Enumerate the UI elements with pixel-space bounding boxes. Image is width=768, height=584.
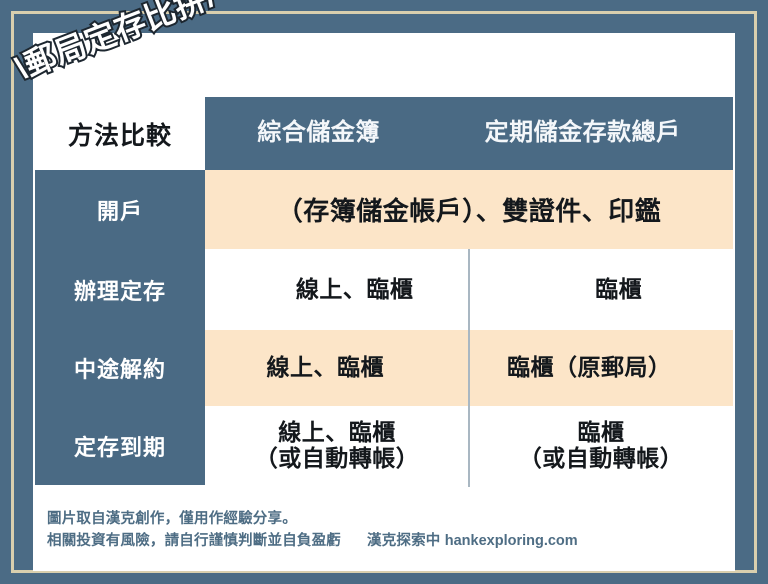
row-value-open-account: （存簿儲金帳戶）、雙證件、印鑑 <box>205 170 733 249</box>
row-value-make-deposit-col2: 臨櫃 <box>504 249 733 330</box>
brand-name: 漢克探索中 <box>367 533 441 549</box>
footer-brand: 漢克探索中 hankexploring.com <box>367 530 578 552</box>
footer-disclaimer-line1: 圖片取自漢克創作，僅用作經驗分享。 <box>47 508 727 530</box>
table-row: 開戶 （存簿儲金帳戶）、雙證件、印鑑 <box>35 170 733 249</box>
column-header-1: 綜合儲金簿 <box>205 97 432 170</box>
footer-line2-wrapper: 相關投資有風險，請自行謹慎判斷並自負盈虧 漢克探索中 hankexploring… <box>47 530 727 552</box>
column-header-2: 定期儲金存款總戶 <box>432 97 733 170</box>
row-value-maturity-col2: 臨櫃（或自動轉帳） <box>469 406 733 485</box>
brand-website: hankexploring.com <box>445 533 578 549</box>
row-value-early-termination-col2: 臨櫃（原郵局） <box>446 330 734 406</box>
infographic-page: HE \郵局定存比拼/ 方法比較 綜合儲金簿 定期儲金存款總戶 開戶 （存簿儲金… <box>0 0 768 584</box>
footer-disclaimer-line2: 相關投資有風險，請自行謹慎判斷並自負盈虧 <box>47 530 341 552</box>
row-label-maturity: 定存到期 <box>35 406 205 485</box>
table-header-row: 方法比較 綜合儲金簿 定期儲金存款總戶 <box>35 97 733 170</box>
comparison-table: 方法比較 綜合儲金簿 定期儲金存款總戶 開戶 （存簿儲金帳戶）、雙證件、印鑑 辦… <box>35 97 733 485</box>
row-value-make-deposit-col1: 線上、臨櫃 <box>205 249 504 330</box>
row-label-make-deposit: 辦理定存 <box>35 249 205 330</box>
row-label-open-account: 開戶 <box>35 170 205 249</box>
column-divider <box>468 249 470 487</box>
row-value-early-termination-col1: 線上、臨櫃 <box>205 330 446 406</box>
footer: 圖片取自漢克創作，僅用作經驗分享。 相關投資有風險，請自行謹慎判斷並自負盈虧 漢… <box>47 508 727 553</box>
table-row: 辦理定存 線上、臨櫃 臨櫃 <box>35 249 733 330</box>
table-corner-label: 方法比較 <box>35 97 205 170</box>
table-row: 中途解約 線上、臨櫃 臨櫃（原郵局） <box>35 330 733 406</box>
table-row: 定存到期 線上、臨櫃（或自動轉帳） 臨櫃（或自動轉帳） <box>35 406 733 485</box>
row-label-early-termination: 中途解約 <box>35 330 205 406</box>
row-value-maturity-col1: 線上、臨櫃（或自動轉帳） <box>205 406 469 485</box>
